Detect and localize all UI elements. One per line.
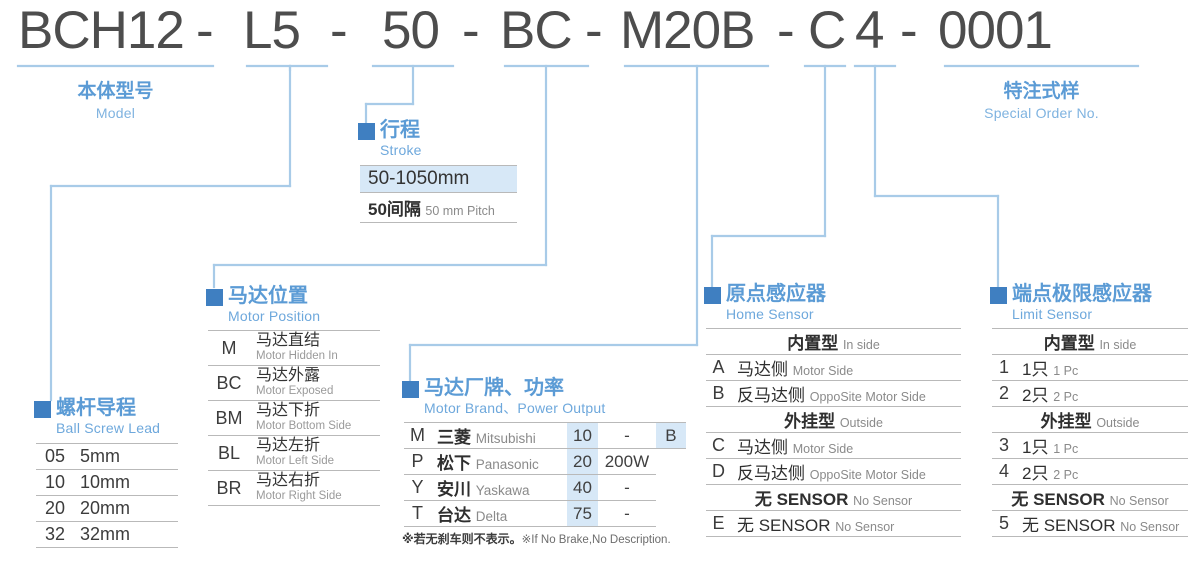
square-marker-icon (402, 381, 419, 398)
motor-brand-body: M三菱 Mitsubishi10-BP松下 Panasonic20200WY安川… (404, 423, 686, 527)
table-row: 无 SENSOR No Sensor (706, 485, 961, 511)
home-sensor-desc-en: OppoSite Motor Side (810, 390, 926, 404)
table-row: BR马达右折Motor Right Side (208, 471, 380, 506)
home-sensor-section-cn: 无 SENSOR (755, 490, 853, 509)
motor-position-desc-cell: 马达下折Motor Bottom Side (250, 401, 380, 436)
brand-name-cell: 安川 Yaskawa (431, 475, 567, 501)
brand-watt-cell: - (598, 423, 656, 449)
group-model: 本体型号 Model (18, 76, 213, 121)
code-segment-4: 50 (382, 2, 439, 60)
lead-code-cell: 32 (36, 522, 74, 548)
stroke-title-cn: 行程 (380, 120, 422, 140)
limit-sensor-code-cell: 3 (992, 433, 1016, 459)
motor-position-code-cell: BC (208, 366, 250, 401)
home-sensor-section-header: 外挂型 Outside (706, 407, 961, 433)
home-sensor-section-en: Outside (840, 416, 883, 430)
limit-sensor-section-header: 外挂型 Outside (992, 407, 1188, 433)
limit-sensor-title-en: Limit Sensor (1012, 307, 1152, 321)
table-row: BC马达外露Motor Exposed (208, 366, 380, 401)
limit-sensor-desc-cn: 1只 (1022, 438, 1053, 457)
brand-name-cn: 安川 (437, 480, 476, 499)
brand-power-code-cell: 20 (567, 449, 598, 475)
table-row: 2020mm (36, 496, 178, 522)
table-row: 内置型 In side (706, 329, 961, 355)
model-title-en: Model (18, 105, 213, 121)
brand-power-code-cell: 40 (567, 475, 598, 501)
motor-position-desc-cn: 马达下折 (256, 403, 374, 420)
home-sensor-desc-cell: 马达侧 Motor Side (731, 433, 961, 459)
square-marker-icon (704, 287, 721, 304)
brand-watt-cell: - (598, 475, 656, 501)
group-ball-screw-lead: 螺杆导程 Ball Screw Lead 055mm1010mm2020mm32… (34, 398, 178, 548)
code-segment-7: - (585, 2, 602, 60)
motor-position-desc-cell: 马达直结Motor Hidden In (250, 331, 380, 366)
ball-screw-lead-body: 055mm1010mm2020mm3232mm (36, 444, 178, 548)
motor-brand-title: 马达厂牌、功率 Motor Brand、Power Output (402, 378, 686, 415)
table-row: D反马达侧 OppoSite Motor Side (706, 459, 961, 485)
motor-position-desc-en: Motor Right Side (256, 490, 374, 503)
code-segment-6: BC (500, 2, 572, 60)
ball-screw-lead-title-cn: 螺杆导程 (56, 398, 160, 418)
model-title-cn: 本体型号 (18, 76, 213, 103)
motor-brand-note-en: ※If No Brake,No Description. (522, 534, 671, 546)
table-row: B反马达侧 OppoSite Motor Side (706, 381, 961, 407)
home-sensor-desc-cell: 反马达侧 OppoSite Motor Side (731, 459, 961, 485)
square-marker-icon (34, 401, 51, 418)
limit-sensor-desc-en: No Sensor (1120, 520, 1179, 534)
limit-sensor-section-cn: 无 SENSOR (1011, 490, 1109, 509)
square-marker-icon (358, 123, 375, 140)
limit-sensor-section-en: No Sensor (1110, 494, 1169, 508)
home-sensor-section-cn: 外挂型 (784, 412, 840, 431)
table-row: Y安川 Yaskawa40- (404, 475, 686, 501)
limit-sensor-body: 内置型 In side11只 1 Pc22只 2 Pc外挂型 Outside31… (992, 329, 1188, 537)
limit-sensor-desc-cell: 2只 2 Pc (1016, 381, 1188, 407)
motor-brand-table: M三菱 Mitsubishi10-BP松下 Panasonic20200WY安川… (404, 422, 686, 527)
special-order-title-en: Special Order No. (945, 105, 1138, 121)
lead-code-cell: 05 (36, 444, 74, 470)
brand-code-cell: Y (404, 475, 431, 501)
motor-position-code-cell: BM (208, 401, 250, 436)
square-marker-icon (206, 289, 223, 306)
lead-value-cell: 10mm (74, 470, 178, 496)
home-sensor-desc-en: No Sensor (835, 520, 894, 534)
limit-sensor-title-cn: 端点极限感应器 (1012, 284, 1152, 304)
home-sensor-desc-cn: 马达侧 (737, 360, 793, 379)
motor-position-desc-cell: 马达左折Motor Left Side (250, 436, 380, 471)
motor-position-desc-en: Motor Exposed (256, 385, 374, 398)
motor-position-desc-cn: 马达直结 (256, 333, 374, 350)
home-sensor-title: 原点感应器 Home Sensor (704, 284, 961, 321)
limit-sensor-desc-cn: 1只 (1022, 360, 1053, 379)
limit-sensor-table: 内置型 In side11只 1 Pc22只 2 Pc外挂型 Outside31… (992, 328, 1188, 537)
limit-sensor-section-header: 内置型 In side (992, 329, 1188, 355)
home-sensor-desc-cell: 无 SENSOR No Sensor (731, 511, 961, 537)
brand-name-en: Panasonic (476, 457, 539, 472)
motor-position-desc-cn: 马达外露 (256, 368, 374, 385)
home-sensor-desc-cn: 反马达侧 (737, 386, 810, 405)
home-sensor-code-cell: E (706, 511, 731, 537)
lead-code-cell: 20 (36, 496, 74, 522)
limit-sensor-code-cell: 4 (992, 459, 1016, 485)
home-sensor-section-header: 内置型 In side (706, 329, 961, 355)
limit-sensor-section-header: 无 SENSOR No Sensor (992, 485, 1188, 511)
brand-name-en: Mitsubishi (476, 431, 536, 446)
motor-brand-title-cn: 马达厂牌、功率 (424, 378, 605, 398)
limit-sensor-section-cn: 内置型 (1044, 334, 1100, 353)
ball-screw-lead-table: 055mm1010mm2020mm3232mm (36, 443, 178, 548)
home-sensor-code-cell: B (706, 381, 731, 407)
home-sensor-code-cell: D (706, 459, 731, 485)
code-segment-13: 0001 (938, 2, 1052, 60)
table-row: 11只 1 Pc (992, 355, 1188, 381)
home-sensor-desc-cell: 马达侧 Motor Side (731, 355, 961, 381)
brand-brake-empty-cell (656, 501, 686, 527)
table-row: 内置型 In side (992, 329, 1188, 355)
limit-sensor-section-en: In side (1099, 338, 1136, 352)
table-row: 1010mm (36, 470, 178, 496)
limit-sensor-desc-cn: 2只 (1022, 464, 1053, 483)
brand-brake-empty-cell (656, 449, 686, 475)
square-marker-icon (990, 287, 1007, 304)
table-row: 外挂型 Outside (706, 407, 961, 433)
brand-name-en: Yaskawa (476, 483, 530, 498)
group-special-order: 特注式样 Special Order No. (945, 76, 1138, 121)
table-row: 无 SENSOR No Sensor (992, 485, 1188, 511)
lead-value-cell: 20mm (74, 496, 178, 522)
brand-code-cell: P (404, 449, 431, 475)
code-segment-8: M20B (620, 2, 754, 60)
limit-sensor-desc-cell: 2只 2 Pc (1016, 459, 1188, 485)
brand-name-cn: 松下 (437, 454, 476, 473)
table-row: 22只 2 Pc (992, 381, 1188, 407)
part-number-code: BCH12-L5-50-BC-M20B-C4-0001 (0, 2, 1200, 62)
motor-brand-title-en: Motor Brand、Power Output (424, 401, 605, 415)
motor-position-title-cn: 马达位置 (228, 286, 320, 306)
brand-watt-cell: 200W (598, 449, 656, 475)
brand-power-code-cell: 75 (567, 501, 598, 527)
brand-brake-empty-cell (656, 475, 686, 501)
code-segment-2: L5 (243, 2, 300, 60)
limit-sensor-desc-en: 2 Pc (1053, 390, 1078, 404)
limit-sensor-section-cn: 外挂型 (1041, 412, 1097, 431)
group-stroke: 行程 Stroke 50-1050mm 50间隔 50 mm Pitch (358, 120, 517, 223)
stroke-title-en: Stroke (380, 143, 422, 157)
stroke-range-row: 50-1050mm (360, 165, 517, 193)
home-sensor-section-en: No Sensor (853, 494, 912, 508)
table-row: 3232mm (36, 522, 178, 548)
motor-position-body: M马达直结Motor Hidden InBC马达外露Motor ExposedB… (208, 331, 380, 506)
stroke-title: 行程 Stroke (358, 120, 517, 157)
brand-code-cell: M (404, 423, 431, 449)
brand-name-en: Delta (476, 509, 508, 524)
home-sensor-code-cell: C (706, 433, 731, 459)
special-order-title-cn: 特注式样 (945, 76, 1138, 103)
stroke-table: 50-1050mm 50间隔 50 mm Pitch (360, 165, 517, 223)
code-segment-12: - (900, 2, 917, 60)
motor-position-desc-cell: 马达右折Motor Right Side (250, 471, 380, 506)
code-segment-0: BCH12 (18, 2, 184, 60)
brand-power-code-cell: 10 (567, 423, 598, 449)
motor-position-desc-cn: 马达右折 (256, 473, 374, 490)
motor-position-desc-cell: 马达外露Motor Exposed (250, 366, 380, 401)
table-row: BL马达左折Motor Left Side (208, 436, 380, 471)
limit-sensor-desc-cn: 无 SENSOR (1022, 516, 1120, 535)
code-segment-1: - (196, 2, 213, 60)
code-segment-3: - (330, 2, 347, 60)
home-sensor-desc-cn: 反马达侧 (737, 464, 810, 483)
lead-code-cell: 10 (36, 470, 74, 496)
motor-brand-note: ※若无刹车则不表示。※If No Brake,No Description. (402, 530, 686, 547)
motor-position-code-cell: M (208, 331, 250, 366)
motor-position-desc-cn: 马达左折 (256, 438, 374, 455)
diagram-canvas: BCH12-L5-50-BC-M20B-C4-0001 本体型号 Model 特… (0, 0, 1200, 575)
motor-position-desc-en: Motor Bottom Side (256, 420, 374, 433)
home-sensor-title-en: Home Sensor (726, 307, 826, 321)
home-sensor-desc-cn: 马达侧 (737, 438, 793, 457)
group-motor-position: 马达位置 Motor Position M马达直结Motor Hidden In… (206, 286, 380, 506)
motor-brand-note-cn: ※若无刹车则不表示。 (402, 532, 522, 546)
group-limit-sensor: 端点极限感应器 Limit Sensor 内置型 In side11只 1 Pc… (990, 284, 1188, 537)
home-sensor-body: 内置型 In sideA马达侧 Motor SideB反马达侧 OppoSite… (706, 329, 961, 537)
home-sensor-code-cell: A (706, 355, 731, 381)
brand-name-cell: 台达 Delta (431, 501, 567, 527)
limit-sensor-desc-cell: 1只 1 Pc (1016, 355, 1188, 381)
motor-position-table: M马达直结Motor Hidden InBC马达外露Motor ExposedB… (208, 330, 380, 506)
limit-sensor-desc-en: 1 Pc (1053, 442, 1078, 456)
motor-position-desc-en: Motor Left Side (256, 455, 374, 468)
table-row: M马达直结Motor Hidden In (208, 331, 380, 366)
limit-sensor-desc-cell: 1只 1 Pc (1016, 433, 1188, 459)
brand-code-cell: T (404, 501, 431, 527)
limit-sensor-code-cell: 5 (992, 511, 1016, 537)
lead-value-cell: 32mm (74, 522, 178, 548)
home-sensor-desc-cn: 无 SENSOR (737, 516, 835, 535)
table-row: E无 SENSOR No Sensor (706, 511, 961, 537)
ball-screw-lead-title-en: Ball Screw Lead (56, 421, 160, 435)
home-sensor-desc-cell: 反马达侧 OppoSite Motor Side (731, 381, 961, 407)
home-sensor-desc-en: OppoSite Motor Side (810, 468, 926, 482)
brand-watt-cell: - (598, 501, 656, 527)
home-sensor-section-cn: 内置型 (787, 334, 843, 353)
brand-name-cn: 台达 (437, 506, 476, 525)
table-row: BM马达下折Motor Bottom Side (208, 401, 380, 436)
table-row: 31只 1 Pc (992, 433, 1188, 459)
ball-screw-lead-title: 螺杆导程 Ball Screw Lead (34, 398, 178, 435)
home-sensor-desc-en: Motor Side (793, 442, 853, 456)
limit-sensor-desc-en: 1 Pc (1053, 364, 1078, 378)
limit-sensor-code-cell: 2 (992, 381, 1016, 407)
table-row: 055mm (36, 444, 178, 470)
table-row: M三菱 Mitsubishi10-B (404, 423, 686, 449)
limit-sensor-section-en: Outside (1096, 416, 1139, 430)
stroke-pitch-row: 50间隔 50 mm Pitch (360, 193, 517, 223)
home-sensor-table: 内置型 In sideA马达侧 Motor SideB反马达侧 OppoSite… (706, 328, 961, 537)
table-row: C马达侧 Motor Side (706, 433, 961, 459)
home-sensor-title-cn: 原点感应器 (726, 284, 826, 304)
motor-position-title-en: Motor Position (228, 309, 320, 323)
code-segment-10: C (808, 2, 845, 60)
table-row: P松下 Panasonic20200W (404, 449, 686, 475)
brand-name-cn: 三菱 (437, 428, 476, 447)
brand-name-cell: 松下 Panasonic (431, 449, 567, 475)
limit-sensor-desc-en: 2 Pc (1053, 468, 1078, 482)
code-segment-11: 4 (855, 2, 883, 60)
lead-value-cell: 5mm (74, 444, 178, 470)
stroke-pitch-en: 50 mm Pitch (425, 204, 494, 218)
table-row: 42只 2 Pc (992, 459, 1188, 485)
motor-position-code-cell: BR (208, 471, 250, 506)
motor-position-title: 马达位置 Motor Position (206, 286, 380, 323)
limit-sensor-title: 端点极限感应器 Limit Sensor (990, 284, 1188, 321)
code-segment-5: - (462, 2, 479, 60)
table-row: 5无 SENSOR No Sensor (992, 511, 1188, 537)
group-home-sensor: 原点感应器 Home Sensor 内置型 In sideA马达侧 Motor … (704, 284, 961, 537)
table-row: A马达侧 Motor Side (706, 355, 961, 381)
stroke-pitch-cn: 50间隔 (368, 200, 421, 219)
motor-position-desc-en: Motor Hidden In (256, 350, 374, 363)
motor-position-code-cell: BL (208, 436, 250, 471)
brand-brake-cell: B (656, 423, 686, 449)
home-sensor-desc-en: Motor Side (793, 364, 853, 378)
group-motor-brand: 马达厂牌、功率 Motor Brand、Power Output M三菱 Mit… (402, 378, 686, 547)
code-segment-9: - (777, 2, 794, 60)
home-sensor-section-header: 无 SENSOR No Sensor (706, 485, 961, 511)
table-row: 外挂型 Outside (992, 407, 1188, 433)
limit-sensor-desc-cell: 无 SENSOR No Sensor (1016, 511, 1188, 537)
limit-sensor-code-cell: 1 (992, 355, 1016, 381)
limit-sensor-desc-cn: 2只 (1022, 386, 1053, 405)
table-row: T台达 Delta75- (404, 501, 686, 527)
home-sensor-section-en: In side (843, 338, 880, 352)
brand-name-cell: 三菱 Mitsubishi (431, 423, 567, 449)
